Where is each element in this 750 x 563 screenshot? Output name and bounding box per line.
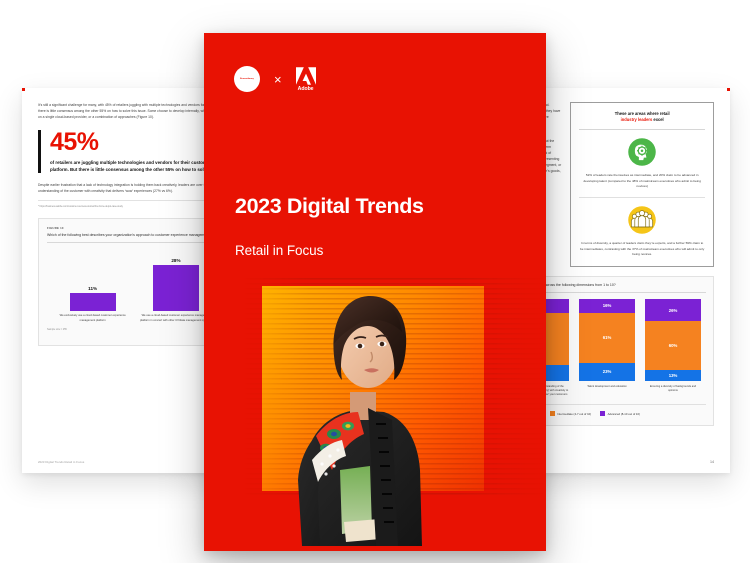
- cover-portrait-illustration: [272, 284, 432, 546]
- callout-section-divider: [579, 197, 705, 198]
- callout-title-line1: These are areas where retail: [615, 111, 670, 116]
- callout-icon-1-wrap: [579, 137, 705, 167]
- segment-advanced: 26%: [645, 299, 700, 320]
- cover-artwork: [204, 278, 546, 551]
- legend-label: Intermediate (4-7 out of 10): [557, 412, 591, 416]
- composition-stage: It’s still a significant challenge for m…: [0, 0, 750, 563]
- segment-intermediate: 60%: [645, 321, 700, 370]
- callout-title-highlight: industry leaders: [621, 117, 653, 122]
- econsultancy-logo-icon: Econsultancy: [234, 66, 260, 92]
- adobe-a-mark-icon: [296, 67, 316, 85]
- right-callout-column: These are areas where retail industry le…: [570, 102, 714, 267]
- stacked-caption: Ensuring a diversity of backgrounds and …: [645, 385, 700, 397]
- left-page-footer: 2023 Digital Trends Retail in Focus: [38, 460, 84, 464]
- bar-column: 28%: [140, 249, 213, 311]
- stacked-column: 26% 60% 13%: [645, 299, 700, 381]
- bar-rect: [153, 265, 199, 311]
- callout-divider: [579, 129, 705, 130]
- legend-swatch-purple: [600, 411, 605, 416]
- segment-basic: 13%: [645, 370, 700, 381]
- stacked-caption: Talent development and education: [579, 385, 634, 397]
- adobe-logo-icon: Adobe: [296, 67, 316, 92]
- bar-value-label: 28%: [171, 258, 180, 263]
- bar-caption: We exclusively use a cloud-based custome…: [56, 314, 129, 322]
- segment-advanced: 16%: [579, 299, 634, 312]
- bar-rect: [70, 293, 116, 311]
- bar-value-label: 11%: [88, 286, 97, 291]
- logo-separator-x-icon: ×: [274, 73, 282, 86]
- segment-basic: 23%: [579, 363, 634, 382]
- callout-title: These are areas where retail industry le…: [579, 111, 705, 123]
- stacked-column: 16% 61% 23%: [579, 299, 634, 381]
- bar-column: 11%: [56, 249, 129, 311]
- legend-item-advanced: Advanced (8-10 out of 10): [600, 411, 640, 416]
- callout-text-1: 52% of leaders rate themselves as interm…: [579, 173, 705, 189]
- cover-logo-lockup: Econsultancy × Adobe: [234, 66, 316, 92]
- brain-gear-icon: [627, 137, 657, 167]
- callout-icon-2-wrap: [579, 205, 705, 235]
- legend-label: Advanced (8-10 out of 10): [608, 412, 640, 416]
- econsultancy-wordmark: Econsultancy: [240, 78, 254, 80]
- callout-text-2: In terms of diversity, a quarter of lead…: [579, 241, 705, 257]
- right-page-number: 14: [710, 460, 714, 464]
- cover-title: 2023 Digital Trends: [235, 196, 424, 218]
- legend-item-intermediate: Intermediate (4-7 out of 10): [550, 411, 591, 416]
- leaders-excel-callout: These are areas where retail industry le…: [570, 102, 714, 267]
- cover-subtitle: Retail in Focus: [235, 244, 323, 258]
- legend-swatch-orange: [550, 411, 555, 416]
- segment-intermediate: 61%: [579, 313, 634, 363]
- page-corner-marker: [22, 88, 25, 91]
- people-group-icon: [627, 205, 657, 235]
- adobe-wordmark: Adobe: [298, 86, 314, 92]
- page-corner-marker: [727, 88, 730, 91]
- report-cover: Econsultancy × Adobe 2023 Digital Trends…: [204, 33, 546, 551]
- bar-caption: We use a cloud-based customer experience…: [140, 314, 213, 322]
- callout-title-line2: excel: [652, 117, 663, 122]
